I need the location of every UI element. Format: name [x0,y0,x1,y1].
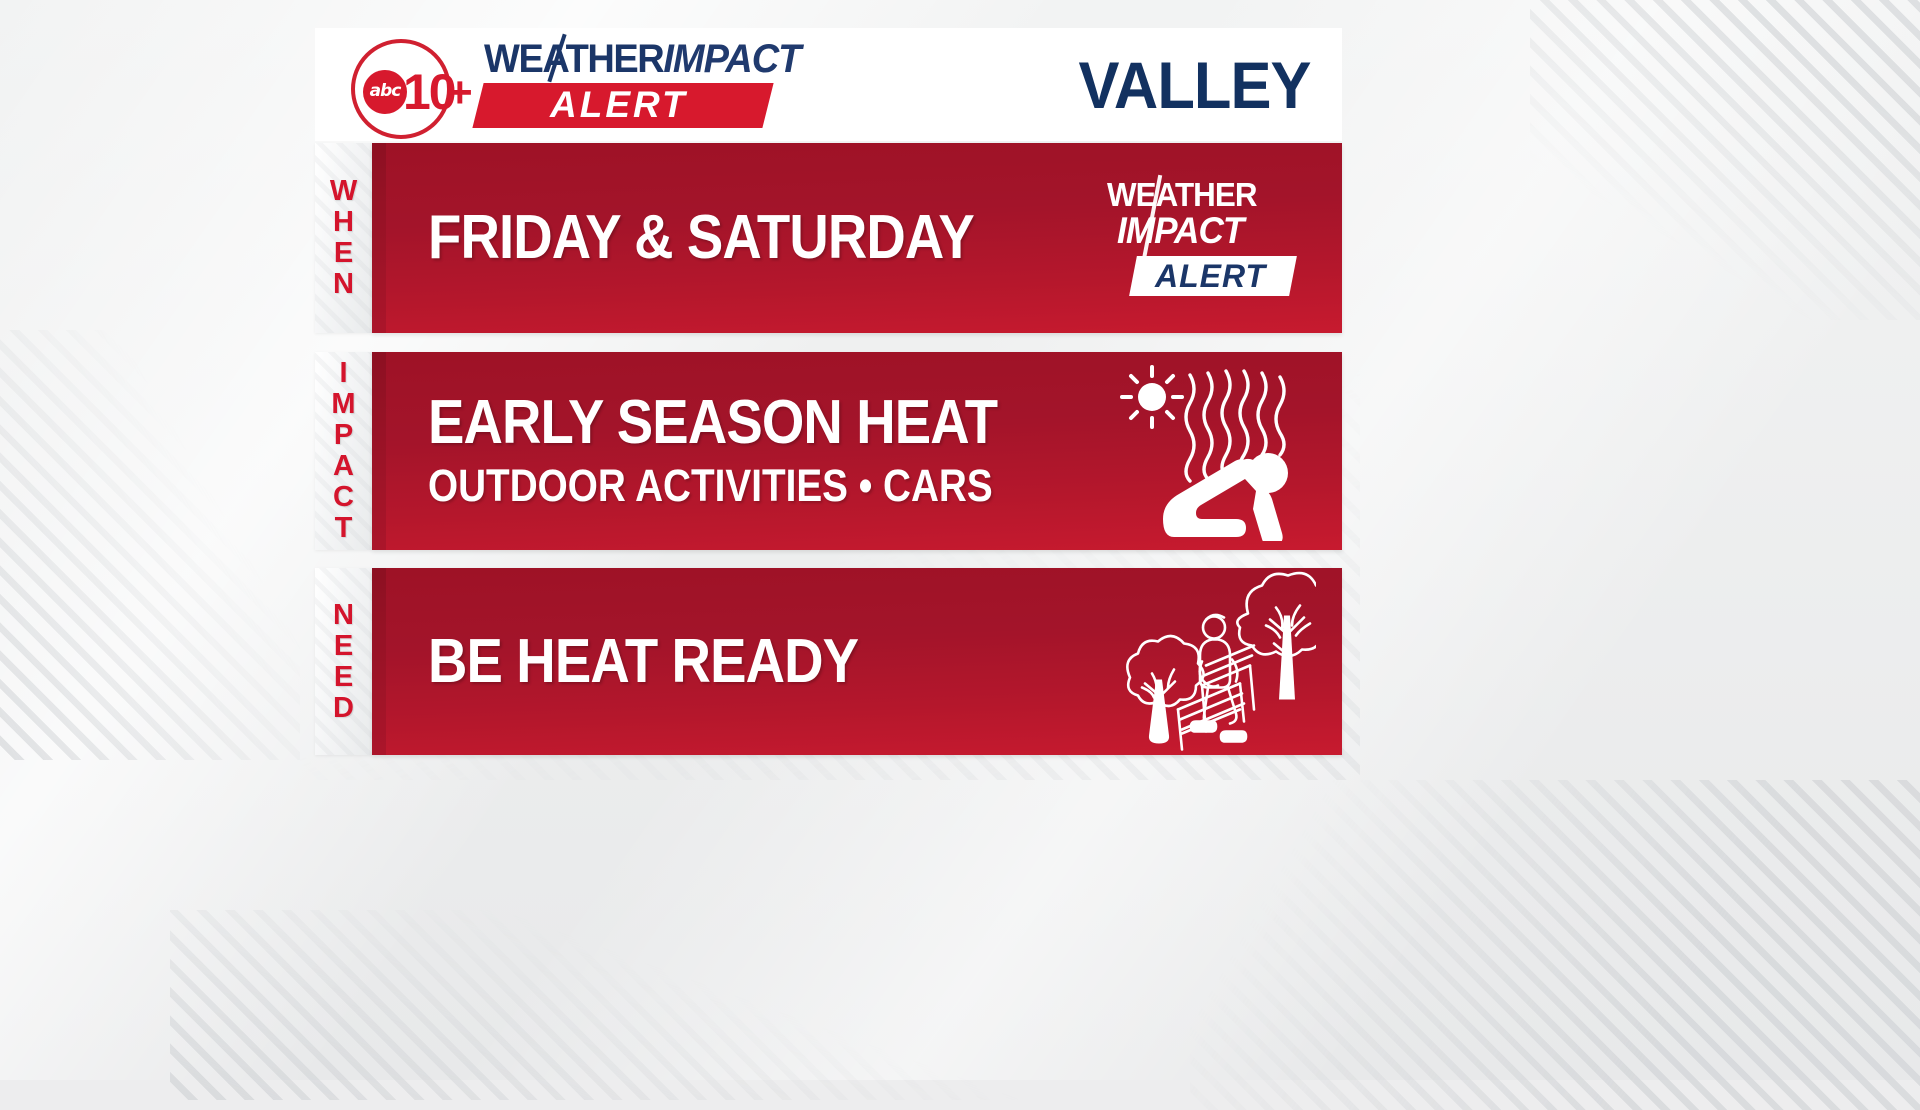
row-label-text-impact: IMPACT [331,358,355,544]
region-title: VALLEY [1078,52,1310,118]
background-hatch-left [0,330,300,760]
banner-impact: EARLY SEASON HEAT OUTDOOR ACTIVITIES • C… [372,352,1342,550]
row-label-impact: IMPACT [315,352,372,550]
sun-heat-exhausted-person-icon [1116,361,1316,541]
brand-impact: IMPACT [663,37,800,81]
brand-line-one: WEATHERIMPACT [484,39,800,79]
brand-we: WE [484,37,542,81]
weather-impact-alert-logo-white: WEATHER IMPACT ALERT [1095,178,1320,298]
mini-brand-ather: ATHER [1156,176,1257,213]
headline-when: FRIDAY & SATURDAY [428,206,974,270]
banner-text-need: BE HEAT READY [372,630,917,694]
alert-row-need: NEED BE HEAT READY [315,568,1342,755]
abc-disc: abc [363,70,407,114]
park-trees-bench-person-icon [1116,569,1316,754]
headline-impact: EARLY SEASON HEAT [428,391,1006,455]
abc-plus-symbol: + [447,71,473,115]
mini-brand-impact: IMPACT [1117,212,1243,250]
row-label-need: NEED [315,568,372,755]
mini-brand-line-one: WEATHER [1107,178,1257,212]
brand-alert-text: ALERT [550,85,688,125]
banner-text-impact: EARLY SEASON HEAT OUTDOOR ACTIVITIES • C… [372,391,1085,511]
background-hatch-bottom-right [1190,780,1920,1110]
header-bar: abc 10 + WEATHERIMPACT ALERT VALLEY [315,28,1342,141]
subline-impact: OUTDOOR ACTIVITIES • CARS [428,461,993,511]
row-label-text-need: NEED [333,600,354,724]
banner-text-when: FRIDAY & SATURDAY [372,206,1048,270]
mini-brand-alert: ALERT [1155,259,1266,293]
weather-impact-alert-logo: WEATHERIMPACT ALERT [478,35,773,135]
headline-need: BE HEAT READY [428,630,858,694]
row-label-text-when: WHEN [330,176,357,300]
mini-brand-we: WE [1107,176,1156,213]
abc-disc-text: abc [370,81,401,101]
banner-need: BE HEAT READY [372,568,1342,755]
alert-row-impact: IMPACT EARLY SEASON HEAT OUTDOOR ACTIVIT… [315,352,1342,550]
banner-when: FRIDAY & SATURDAY WEATHER IMPACT ALERT [372,143,1342,333]
row-label-when: WHEN [315,143,372,333]
alert-row-when: WHEN FRIDAY & SATURDAY WEATHER IMPACT AL… [315,143,1342,333]
background-hatch-bottom-left [170,910,1070,1100]
background-hatch-top-right [1530,0,1920,320]
abc10-plus-logo: abc 10 + [343,36,468,134]
